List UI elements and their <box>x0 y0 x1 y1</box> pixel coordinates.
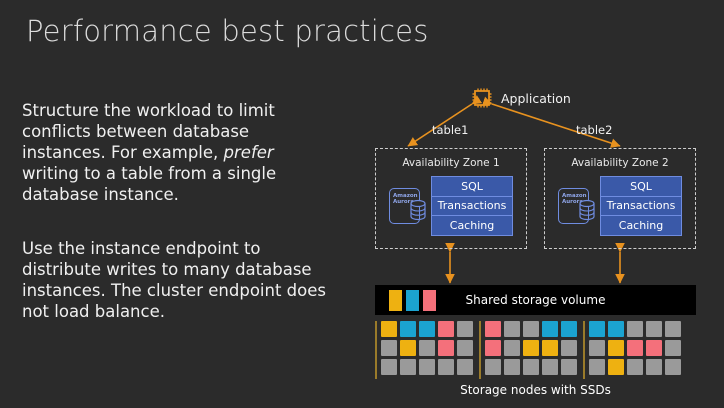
storage-node <box>523 321 539 337</box>
storage-node <box>523 340 539 356</box>
storage-node <box>589 359 605 375</box>
az2-service-sql[interactable]: SQL <box>600 176 682 197</box>
storage-node <box>504 321 520 337</box>
storage-node <box>381 340 397 356</box>
storage-group-separator <box>583 321 585 379</box>
storage-node <box>627 359 643 375</box>
storage-nodes-label: Storage nodes with SSDs <box>366 383 705 397</box>
storage-node <box>504 359 520 375</box>
storage-node <box>542 321 558 337</box>
availability-zone-1-box[interactable]: Availability Zone 1 Amazon Aurora S <box>375 148 527 249</box>
architecture-diagram: Application table1 table2 Availability Z… <box>366 80 716 400</box>
storage-node <box>457 340 473 356</box>
storage-group-separator <box>375 321 377 379</box>
storage-node-group-2 <box>479 321 577 379</box>
storage-node <box>627 340 643 356</box>
storage-node-cells <box>589 321 681 375</box>
shared-storage-volume-label: Shared storage volume <box>375 293 696 307</box>
az1-service-sql[interactable]: SQL <box>431 176 513 197</box>
storage-node <box>665 359 681 375</box>
storage-node-cells <box>485 321 577 375</box>
connection-label-table1: table1 <box>432 123 468 137</box>
storage-node <box>561 359 577 375</box>
storage-node <box>381 359 397 375</box>
storage-node <box>646 340 662 356</box>
storage-node <box>485 321 501 337</box>
amazon-aurora-icon: Amazon Aurora <box>558 185 598 227</box>
storage-node <box>608 340 624 356</box>
page-title: Performance best practices <box>26 14 429 48</box>
amazon-aurora-icon: Amazon Aurora <box>389 185 429 227</box>
storage-node <box>608 321 624 337</box>
storage-node <box>438 340 454 356</box>
storage-node <box>457 359 473 375</box>
storage-node <box>561 340 577 356</box>
storage-node <box>627 321 643 337</box>
application-node[interactable]: Application <box>470 86 571 110</box>
storage-node <box>608 359 624 375</box>
storage-node <box>646 359 662 375</box>
application-label: Application <box>501 91 571 106</box>
body-paragraph-1: Structure the workload to limit conflict… <box>22 100 334 205</box>
storage-node <box>589 340 605 356</box>
storage-node <box>646 321 662 337</box>
storage-node <box>542 340 558 356</box>
storage-node <box>485 340 501 356</box>
database-cylinder-icon <box>578 199 596 221</box>
az1-service-stack: SQL Transactions Caching <box>431 176 513 236</box>
availability-zone-2-title: Availability Zone 2 <box>545 157 695 169</box>
availability-zone-1-title: Availability Zone 1 <box>376 157 526 169</box>
paragraph-1-suffix: writing to a table from a single databas… <box>22 164 276 204</box>
storage-node <box>561 321 577 337</box>
storage-node <box>485 359 501 375</box>
storage-node <box>438 359 454 375</box>
storage-node <box>419 321 435 337</box>
cpu-chip-icon <box>470 86 494 110</box>
shared-storage-volume-bar[interactable]: Shared storage volume <box>375 285 696 315</box>
storage-node <box>438 321 454 337</box>
storage-group-separator <box>479 321 481 379</box>
database-cylinder-icon <box>409 199 427 221</box>
body-paragraph-2: Use the instance endpoint to distribute … <box>22 238 334 322</box>
storage-node-cells <box>381 321 473 375</box>
storage-node <box>419 359 435 375</box>
az2-service-caching[interactable]: Caching <box>600 215 682 236</box>
connection-label-table2: table2 <box>576 123 612 137</box>
storage-node-grid <box>375 321 696 379</box>
storage-node-group-3 <box>583 321 681 379</box>
storage-node <box>665 321 681 337</box>
az2-service-stack: SQL Transactions Caching <box>600 176 682 236</box>
paragraph-1-emphasis: prefer <box>224 143 274 162</box>
storage-node <box>419 340 435 356</box>
storage-node <box>665 340 681 356</box>
storage-node <box>504 340 520 356</box>
storage-node <box>523 359 539 375</box>
storage-node <box>542 359 558 375</box>
availability-zone-2-box[interactable]: Availability Zone 2 Amazon Aurora S <box>544 148 696 249</box>
storage-node <box>589 321 605 337</box>
storage-node <box>381 321 397 337</box>
storage-node <box>457 321 473 337</box>
az1-service-caching[interactable]: Caching <box>431 215 513 236</box>
storage-node <box>400 340 416 356</box>
az2-service-transactions[interactable]: Transactions <box>600 196 682 217</box>
storage-node <box>400 321 416 337</box>
az1-service-transactions[interactable]: Transactions <box>431 196 513 217</box>
storage-node-group-1 <box>375 321 473 379</box>
storage-node <box>400 359 416 375</box>
